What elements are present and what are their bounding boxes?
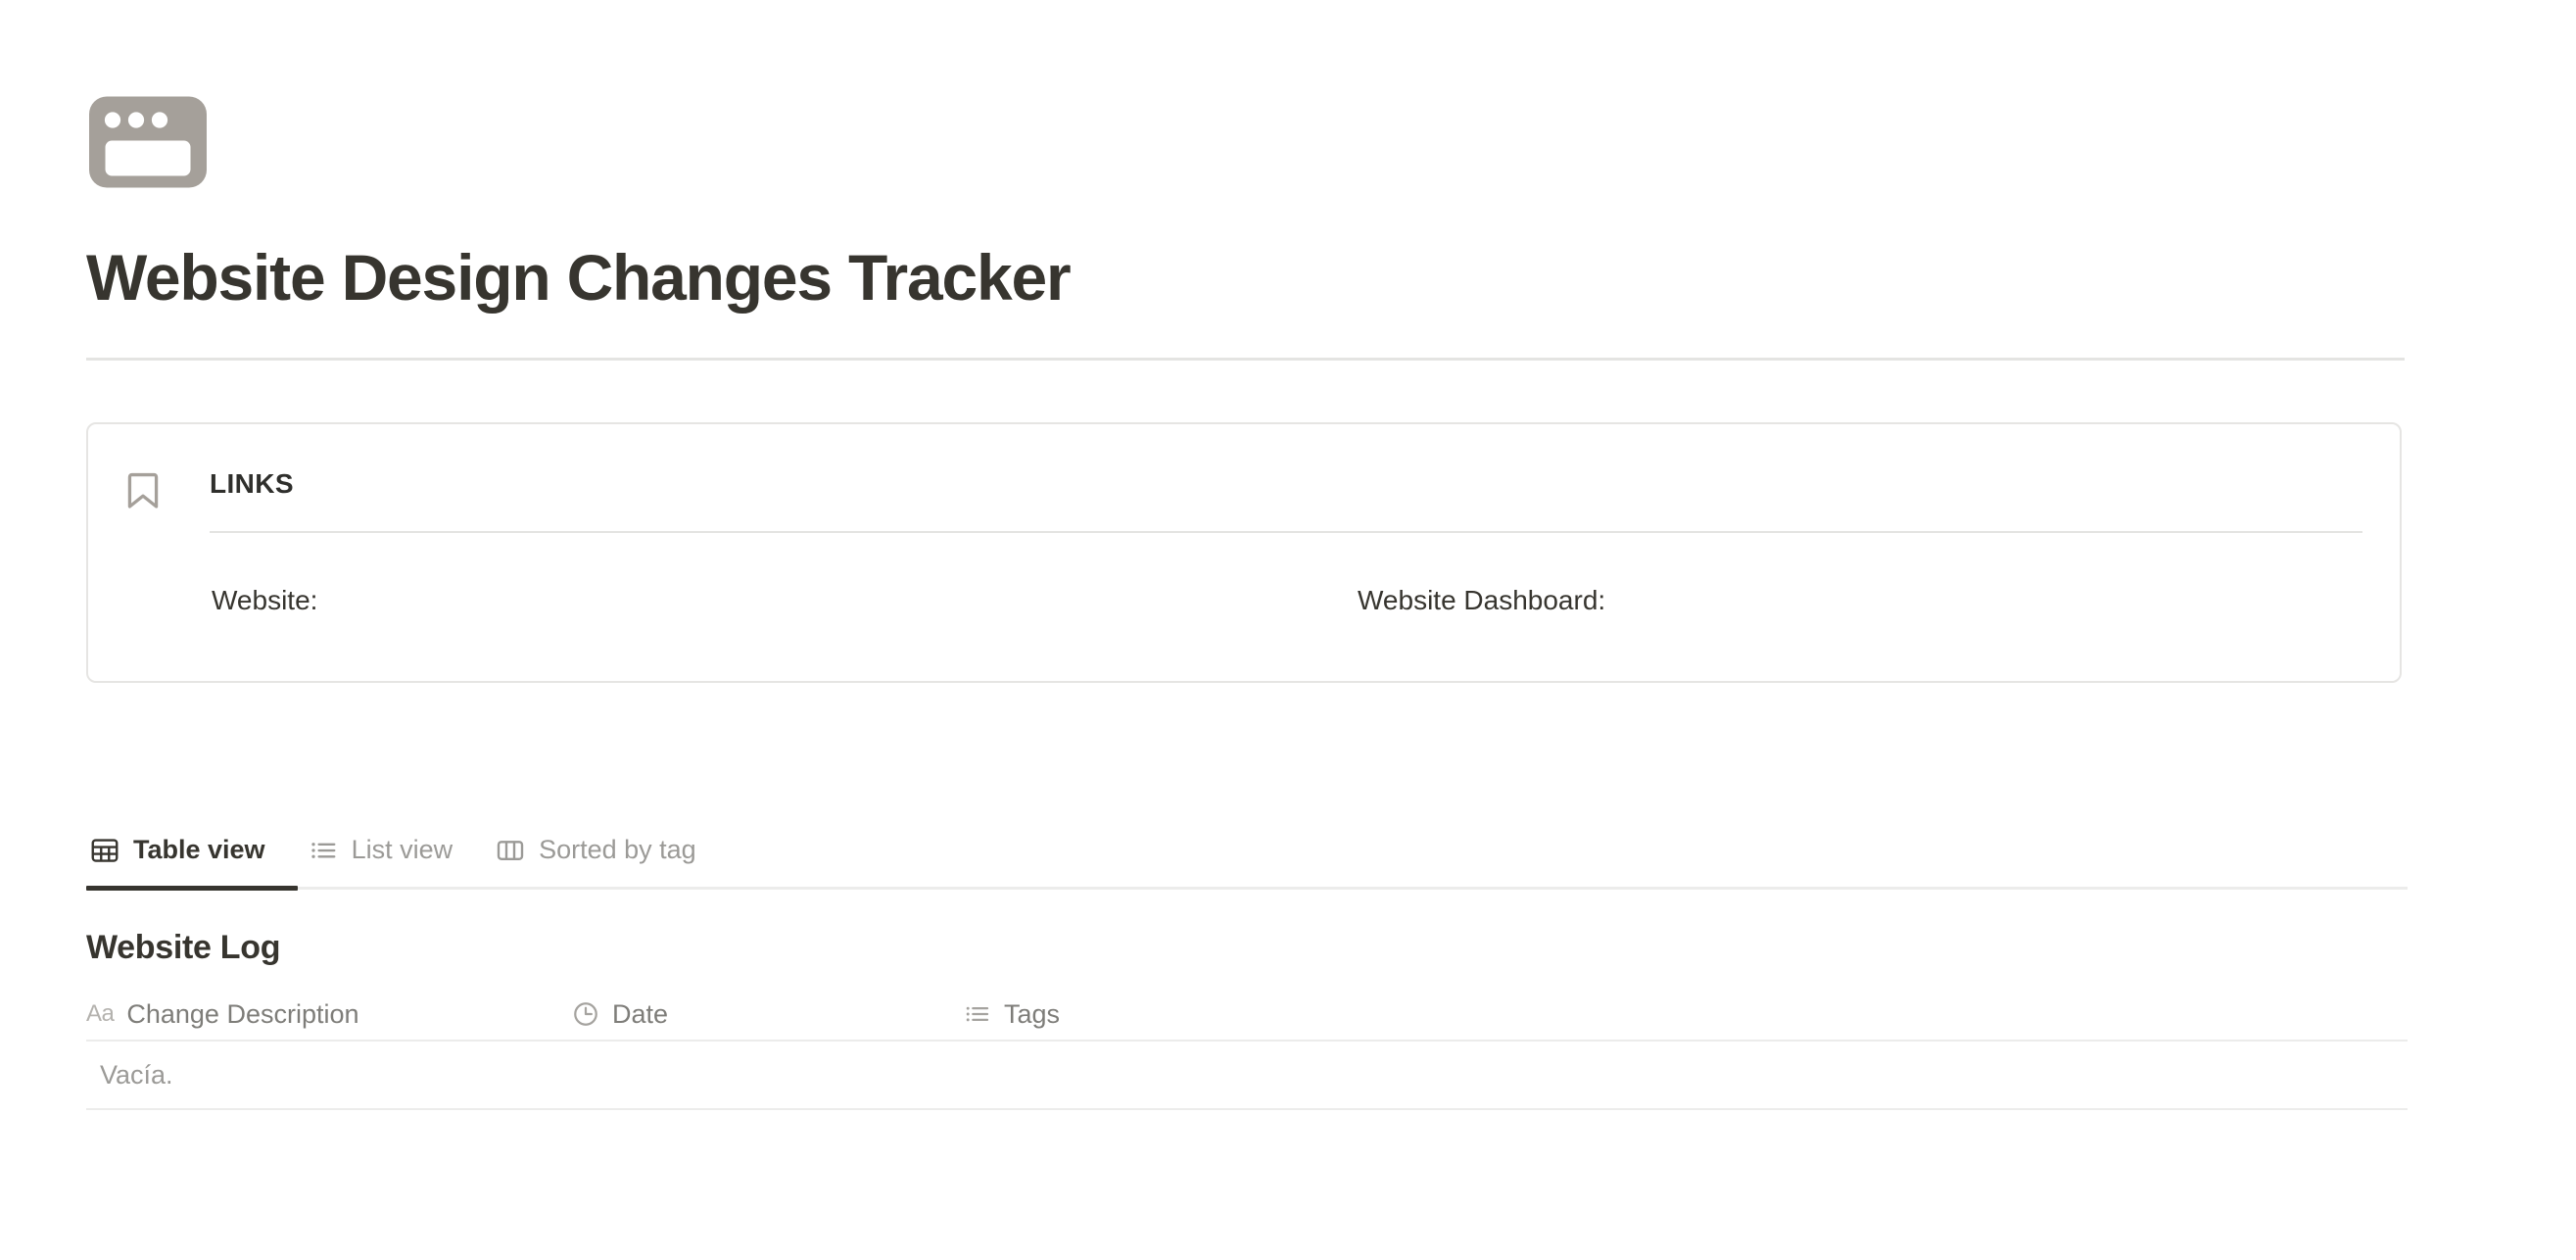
table-empty-text: Vacía.: [100, 1060, 173, 1090]
database-table: Aa Change Description Date: [86, 989, 2408, 1110]
links-callout: LINKS Website: Website Dashboard:: [86, 422, 2402, 683]
active-tab-underline: [86, 886, 298, 891]
notion-page: Website Design Changes Tracker LINKS Web…: [0, 0, 2576, 1260]
column-header-date-label: Date: [612, 999, 668, 1030]
table-empty-row[interactable]: Vacía.: [86, 1042, 2408, 1110]
tab-table-view-label: Table view: [133, 835, 265, 865]
link-website-dashboard[interactable]: Website Dashboard:: [1358, 581, 1605, 619]
column-header-date[interactable]: Date: [572, 999, 964, 1030]
tab-table-view[interactable]: Table view: [86, 835, 269, 865]
clock-icon: [572, 1000, 599, 1028]
list-icon: [309, 836, 338, 865]
page-title[interactable]: Website Design Changes Tracker: [86, 242, 2408, 315]
callout-body: LINKS: [210, 469, 2400, 533]
page-content: Website Design Changes Tracker LINKS Web…: [86, 0, 2408, 1110]
tab-list-view-label: List view: [352, 835, 453, 865]
callout-header: LINKS: [88, 424, 2400, 533]
views-divider: [86, 887, 2408, 890]
title-divider: [86, 358, 2405, 361]
board-columns-icon: [496, 836, 525, 865]
multi-select-icon: [964, 1000, 991, 1028]
text-aa-icon: Aa: [86, 1002, 114, 1026]
tab-sorted-by-tag[interactable]: Sorted by tag: [492, 835, 700, 865]
column-header-tags[interactable]: Tags: [964, 999, 2408, 1030]
link-website[interactable]: Website:: [212, 581, 1358, 619]
callout-links-row: Website: Website Dashboard:: [88, 581, 2400, 619]
tab-sorted-by-tag-label: Sorted by tag: [539, 835, 696, 865]
column-header-tags-label: Tags: [1004, 999, 1060, 1030]
column-header-change-description-label: Change Description: [126, 999, 358, 1030]
browser-window-icon[interactable]: [86, 93, 210, 191]
database-title[interactable]: Website Log: [86, 929, 2408, 967]
callout-title: LINKS: [210, 469, 2362, 500]
database-views: Table view List view: [86, 835, 2408, 890]
bookmark-icon: [125, 471, 161, 510]
table-header-row: Aa Change Description Date: [86, 989, 2408, 1042]
view-tab-list: Table view List view: [86, 835, 2408, 887]
tab-list-view[interactable]: List view: [305, 835, 457, 865]
callout-rule: [210, 531, 2362, 533]
column-header-change-description[interactable]: Aa Change Description: [86, 999, 572, 1030]
table-icon: [90, 836, 119, 865]
